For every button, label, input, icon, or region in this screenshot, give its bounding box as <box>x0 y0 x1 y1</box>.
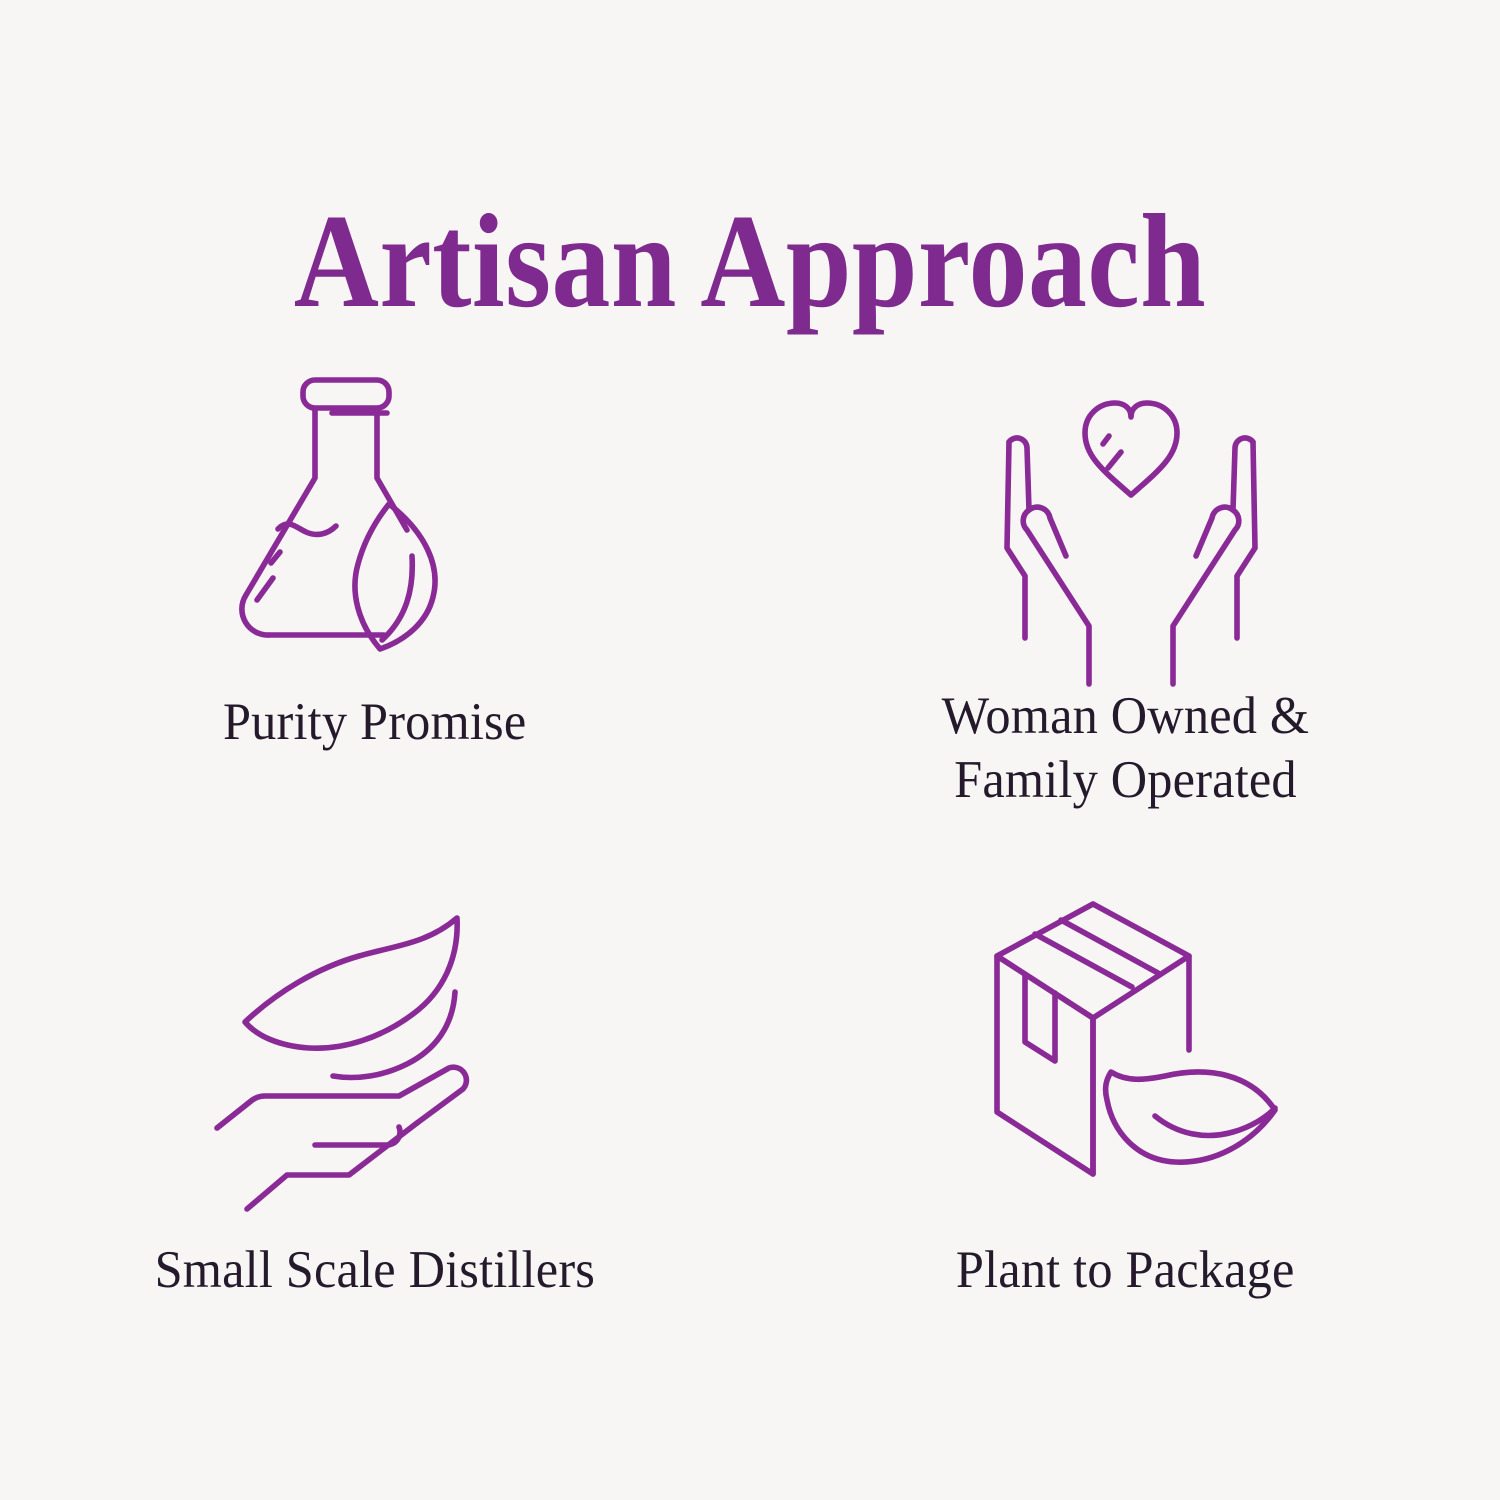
package-box-leaf-icon <box>983 890 1283 1190</box>
feature-label-line1: Plant to Package <box>956 1241 1295 1299</box>
feature-label-line1: Woman Owned & <box>941 687 1309 745</box>
feature-label: Woman Owned & Family Operated <box>941 684 1309 812</box>
feature-item-plant-to-package: Plant to Package <box>750 870 1500 1380</box>
artisan-approach-panel: Artisan Approach <box>0 0 1500 1500</box>
page-title: Artisan Approach <box>90 186 1410 336</box>
feature-label: Purity Promise <box>223 690 526 754</box>
leaf-in-hand-icon <box>215 896 515 1196</box>
feature-label: Small Scale Distillers <box>155 1238 596 1302</box>
feature-item-woman-owned: Woman Owned & Family Operated <box>750 360 1500 870</box>
feature-label-line1: Small Scale Distillers <box>155 1241 596 1299</box>
flask-leaf-icon <box>220 360 520 660</box>
feature-label-line2: Family Operated <box>941 748 1309 812</box>
feature-grid: Purity Promise <box>0 360 1500 1380</box>
feature-item-small-scale-distillers: Small Scale Distillers <box>0 870 750 1380</box>
hands-holding-heart-icon <box>981 360 1281 660</box>
feature-label: Plant to Package <box>956 1238 1295 1302</box>
feature-label-line1: Purity Promise <box>223 693 526 751</box>
feature-item-purity-promise: Purity Promise <box>0 360 750 870</box>
